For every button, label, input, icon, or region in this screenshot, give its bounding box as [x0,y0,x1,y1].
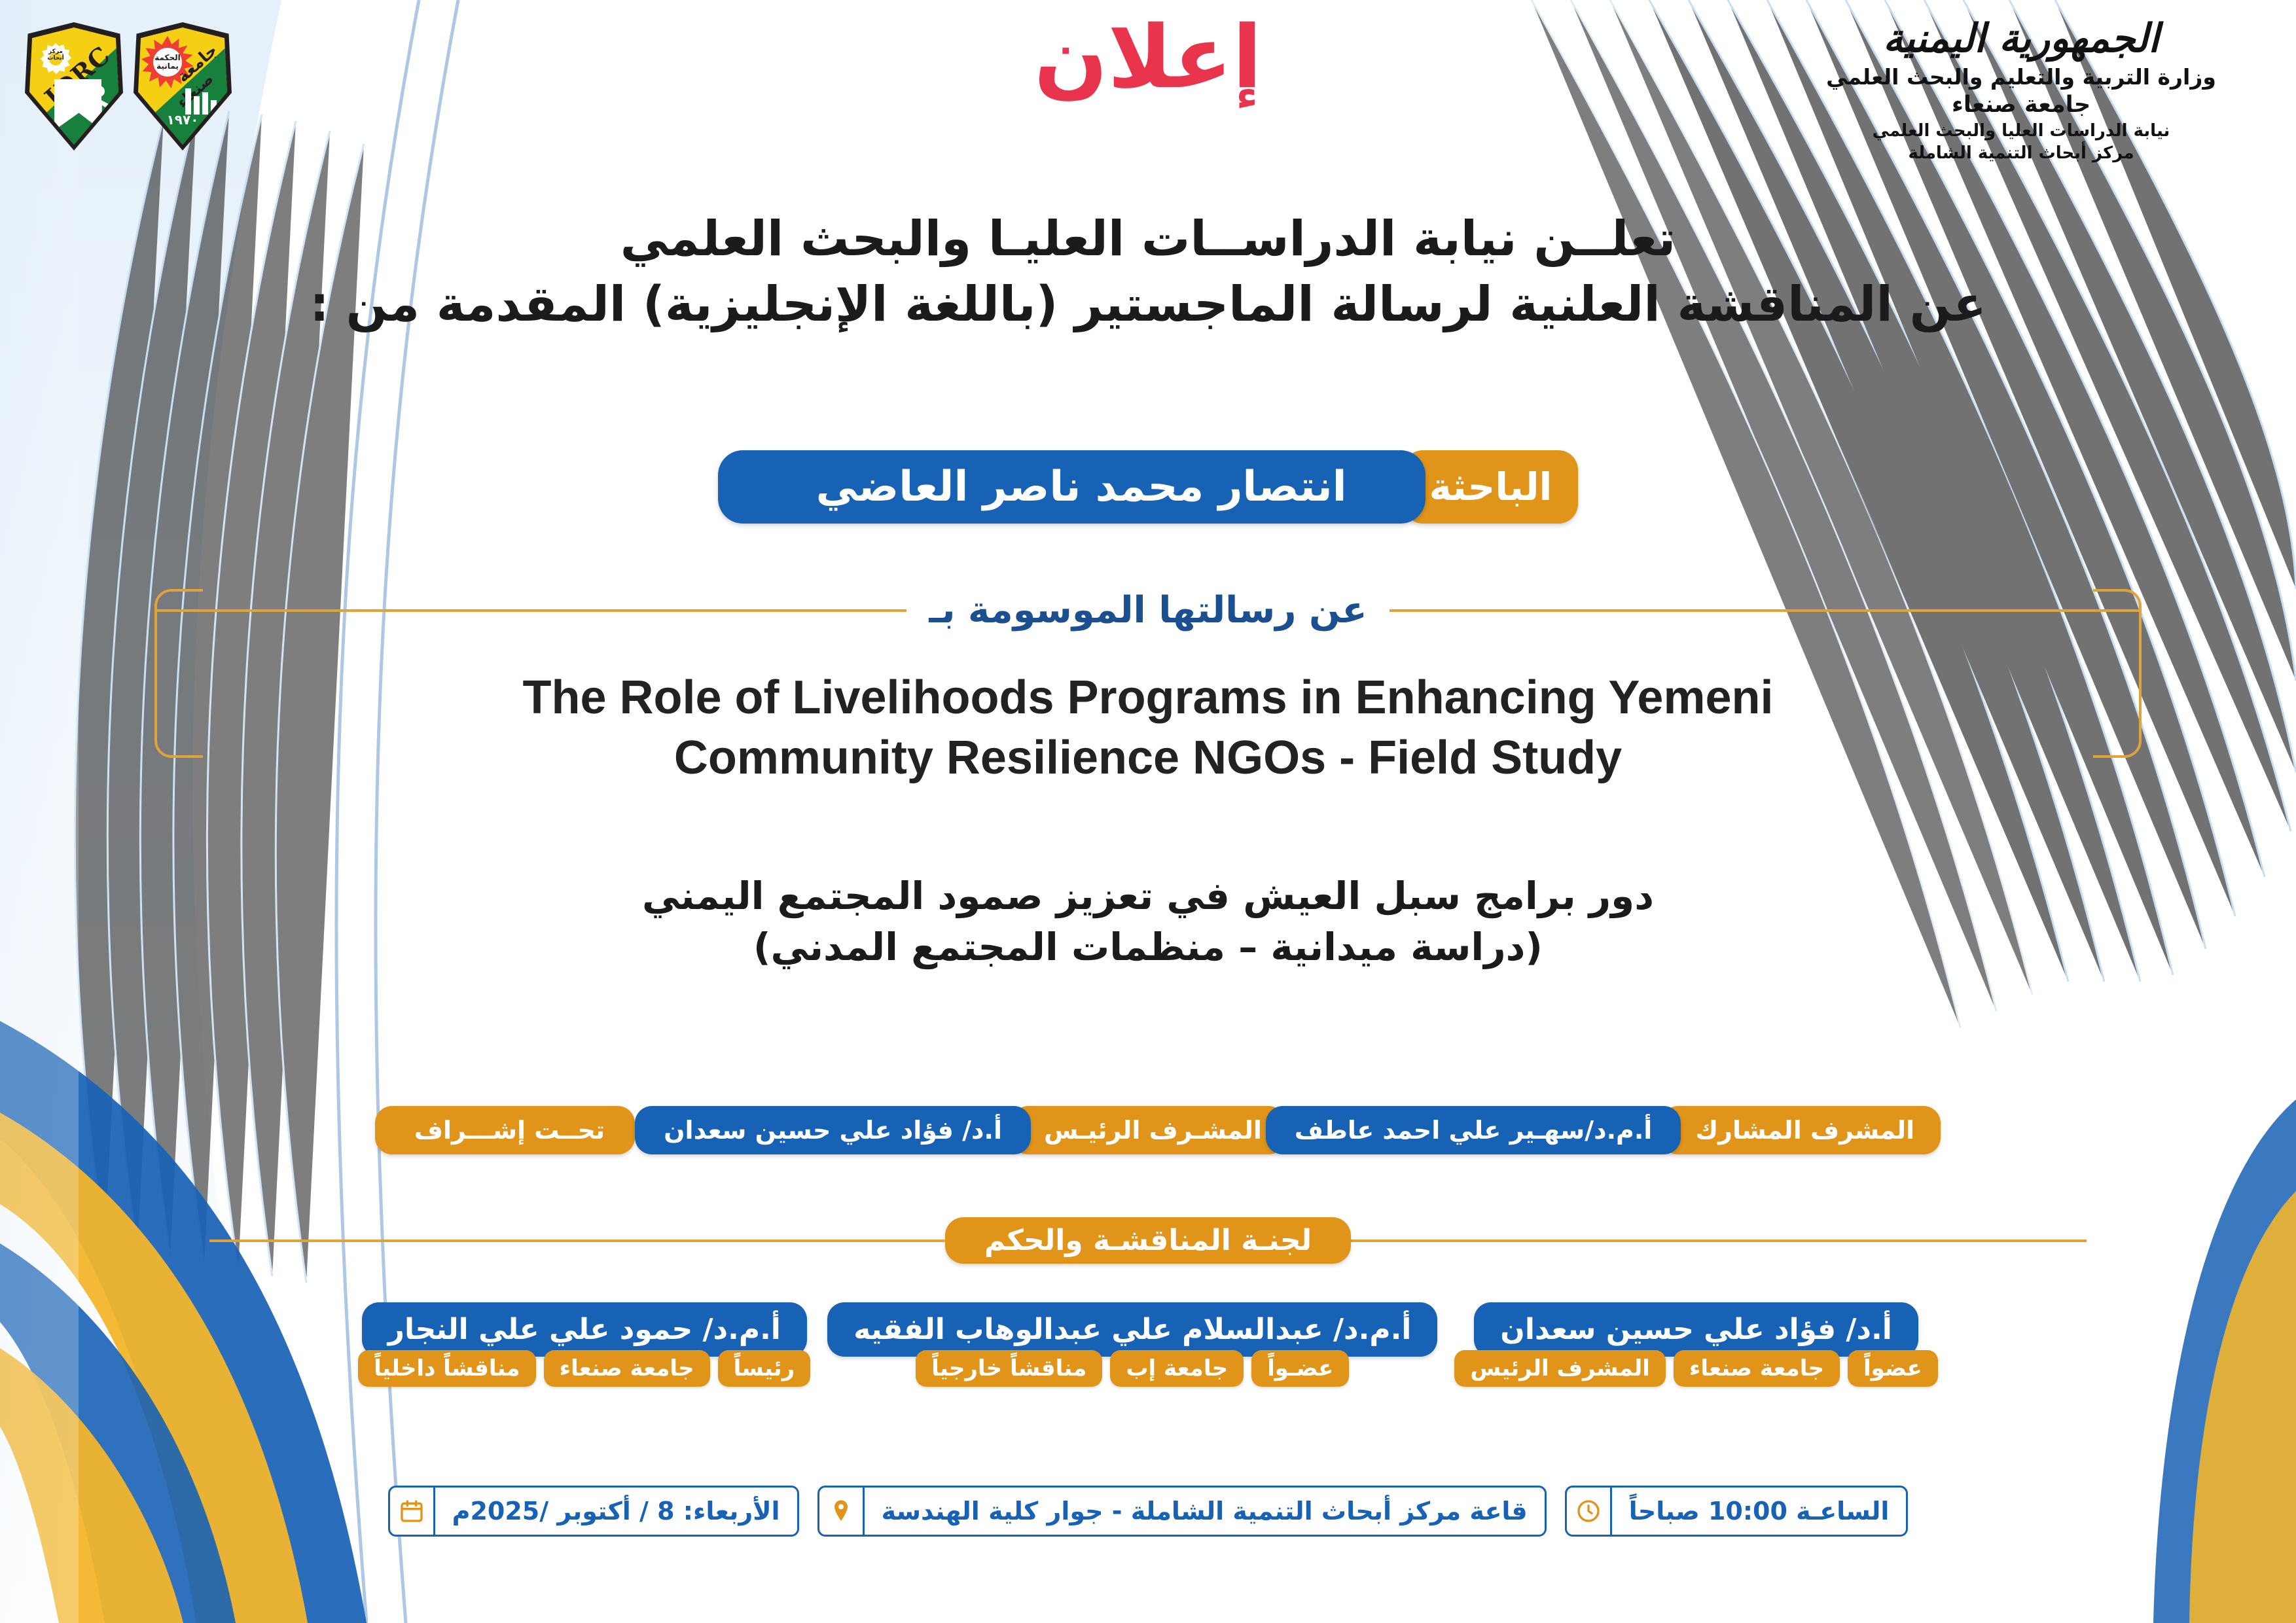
calendar-icon [390,1488,435,1535]
member-tags: عضواً جامعة صنعاء المشرف الرئيس [1454,1350,1937,1387]
member-tag: مناقشاً خارجياً [916,1350,1102,1387]
idrc-logo: مركز أبحاث IDRC [25,22,123,151]
divider-right [157,609,906,612]
member-tag: جامعة صنعاء [1674,1350,1840,1387]
researcher-name: انتصار محمد ناصر العاضي [718,450,1426,524]
member-tag: عضواً [1848,1350,1938,1387]
member-tag: المشرف الرئيس [1454,1350,1666,1387]
event-footer: الساعـة 10:00 صباحاً قاعة مركز أبحاث الت… [0,1486,2296,1537]
thesis-title-english: The Role of Livelihoods Programs in Enha… [0,668,2296,788]
thesis-section-header: عن رسالتها الموسومة بـ [157,589,2139,632]
footer-date: الأربعاء: 8 / أكتوبر /2025م [388,1486,799,1537]
member-tag: مناقشاً داخلياً [358,1350,535,1387]
member-tags: عضـواً جامعة إب مناقشاً خارجياً [916,1350,1349,1387]
researcher-label: الباحثة [1403,450,1579,524]
member-tag: جامعة صنعاء [544,1350,710,1387]
thesis-ar-line-2: (دراسة ميدانية – منظمات المجتمع المدني) [0,921,2296,972]
thesis-en-line-2: Community Resilience NGOs - Field Study [0,728,2296,788]
research-center-name: مركز أبحاث التنمية الشاملة [1772,143,2270,165]
sanaa-university-logo: الحكمة يمانية جامعة صنعاء ١٩٧٠ [134,22,232,151]
lead-line-1: تعلــن نيابة الدراســات العليـا والبحث ا… [0,209,2296,268]
footer-venue: قاعة مركز أبحاث التنمية الشاملة - جوار ك… [817,1486,1547,1537]
location-pin-icon [819,1488,865,1535]
lead-paragraph: تعلــن نيابة الدراســات العليـا والبحث ا… [0,209,2296,334]
supervision-label: تحــت إشـــراف [375,1106,635,1154]
committee-member: أ.م.د/ عبدالسلام علي عبدالوهاب الفقيه عض… [827,1302,1437,1387]
announcement-poster: الحكمة يمانية جامعة صنعاء ١٩٧٠ [0,0,2296,1623]
main-supervisor-name: أ.د/ فؤاد علي حسين سعدان [635,1106,1031,1154]
gear-text-2: أبحاث [47,56,64,62]
member-name: أ.م.د/ عبدالسلام علي عبدالوهاب الفقيه [827,1302,1437,1357]
co-supervisor-name: أ.م.د/سهـير علي احمد عاطف [1266,1106,1681,1154]
committee-heading: لجنـة المناقشـة والحكم [945,1217,1351,1264]
committee-section-header: لجنـة المناقشـة والحكم [209,1217,2087,1264]
university-name: جامعة صنعاء [1772,90,2270,120]
clock-icon [1567,1488,1612,1535]
republic-name: الجمهورية اليمنية [1772,18,2270,60]
footer-time: الساعـة 10:00 صباحاً [1565,1486,1909,1537]
member-name: أ.م.د/ حمود علي علي النجار [362,1302,807,1357]
date-text: الأربعاء: 8 / أكتوبر /2025م [435,1488,797,1535]
thesis-en-line-1: The Role of Livelihoods Programs in Enha… [0,668,2296,728]
thesis-ar-line-1: دور برامج سبل العيش في تعزيز صمود المجتم… [0,870,2296,921]
supervision-row: المشرف المشارك أ.م.د/سهـير علي احمد عاطف… [0,1106,2296,1154]
logo-group: الحكمة يمانية جامعة صنعاء ١٩٧٠ [25,22,232,151]
committee-divider-right [209,1240,945,1242]
committee-members: أ.د/ فؤاد علي حسين سعدان عضواً جامعة صنع… [0,1302,2296,1387]
logo-year: ١٩٧٠ [138,112,227,128]
venue-text: قاعة مركز أبحاث التنمية الشاملة - جوار ك… [865,1488,1545,1535]
committee-member: أ.م.د/ حمود علي علي النجار رئيساً جامعة … [358,1302,810,1387]
member-tag: جامعة إب [1110,1350,1244,1387]
main-supervisor-role: المشـرف الرئيـس [1011,1106,1285,1154]
ministry-name: وزارة التربية والتعليم والبحث العلمي [1772,63,2270,90]
member-tag: عضـواً [1251,1350,1349,1387]
ministry-header: الجمهورية اليمنية وزارة التربية والتعليم… [1772,18,2270,164]
thesis-title-arabic: دور برامج سبل العيش في تعزيز صمود المجتم… [0,870,2296,973]
deputyship-name: نيابة الدراسات العليا والبحث العلمي [1772,120,2270,143]
committee-divider-left [1351,1240,2087,1242]
committee-member: أ.د/ فؤاد علي حسين سعدان عضواً جامعة صنع… [1454,1302,1937,1387]
member-tags: رئيساً جامعة صنعاء مناقشاً داخلياً [358,1350,810,1387]
thesis-section-label: عن رسالتها الموسومة بـ [906,589,1389,632]
lead-line-2: عن المناقشة العلنية لرسالة الماجستير (با… [0,275,2296,334]
member-tag: رئيساً [718,1350,811,1387]
member-name: أ.د/ فؤاد علي حسين سعدان [1474,1302,1918,1357]
divider-left [1390,609,2139,612]
time-text: الساعـة 10:00 صباحاً [1612,1488,1907,1535]
researcher-row: الباحثة انتصار محمد ناصر العاضي [0,450,2296,524]
co-supervisor-role: المشرف المشارك [1661,1106,1941,1154]
